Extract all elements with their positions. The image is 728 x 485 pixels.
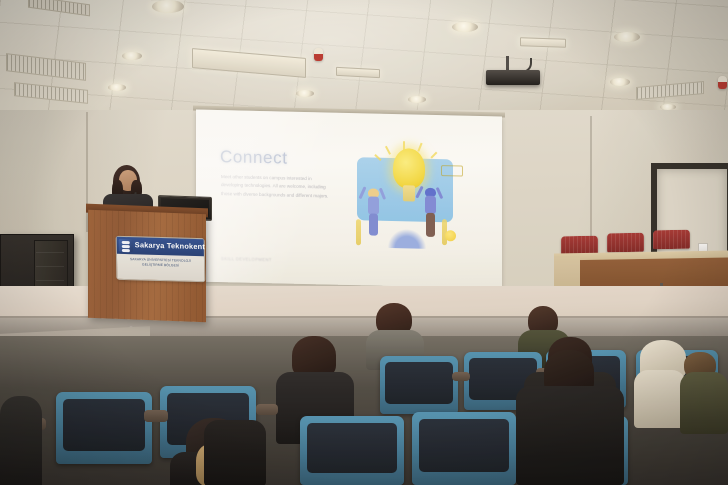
fluorescent-panel-3 [520, 37, 566, 48]
fire-sprinkler-1 [314, 48, 323, 61]
suspended-ceiling [0, 0, 728, 122]
attendee-torso [516, 386, 624, 485]
seat-armrest-4 [144, 410, 168, 422]
podium-logo-name: Sakarya Teknokent [135, 240, 205, 251]
panel-chair-2 [607, 233, 644, 253]
attendee-torso [204, 420, 266, 485]
seat-mid-1[interactable] [380, 356, 458, 414]
seat-cushion [419, 419, 508, 472]
podium-logo-band: Sakarya Teknokent [117, 237, 204, 256]
rack-slat-1 [36, 252, 64, 253]
auditorium-photo: Connect Meet other students on campus in… [0, 0, 728, 485]
screen-glare [196, 110, 502, 289]
downlight-5 [614, 32, 640, 42]
downlight-2 [122, 52, 142, 60]
fire-sprinkler-2 [718, 76, 727, 89]
seat-armrest-1 [452, 372, 470, 381]
ceiling-highlight [0, 0, 728, 122]
downlight-7 [296, 90, 314, 97]
podium-logo-subtitle: SAKARYA ÜNİVERSİTESİ TEKNOLOJİ GELİŞTİRM… [121, 257, 200, 269]
seat-front-4[interactable] [412, 412, 516, 485]
panel-chair-3 [653, 230, 690, 250]
projection-screen: Connect Meet other students on campus in… [196, 110, 502, 289]
downlight-1 [152, 0, 184, 13]
seat-cushion [63, 399, 146, 451]
downlight-3 [108, 84, 126, 91]
podium-logo-plate: Sakarya Teknokent SAKARYA ÜNİVERSİTESİ T… [116, 236, 206, 283]
seat-front-1[interactable] [56, 392, 152, 464]
attendee-torso [0, 396, 42, 485]
teknokent-logo-icon [119, 239, 133, 252]
seat-cushion [307, 423, 396, 473]
attendee-torso [634, 370, 686, 428]
rack-slat-2 [36, 266, 64, 267]
ceiling-projector [486, 70, 540, 85]
rack-slat-3 [36, 280, 64, 281]
seat-front-3[interactable] [300, 416, 404, 485]
downlight-6 [610, 78, 630, 86]
downlight-8 [408, 96, 426, 103]
attendee-torso [680, 372, 728, 434]
downlight-4 [452, 22, 478, 32]
seat-cushion [385, 362, 452, 404]
seat-armrest-5 [256, 404, 278, 415]
